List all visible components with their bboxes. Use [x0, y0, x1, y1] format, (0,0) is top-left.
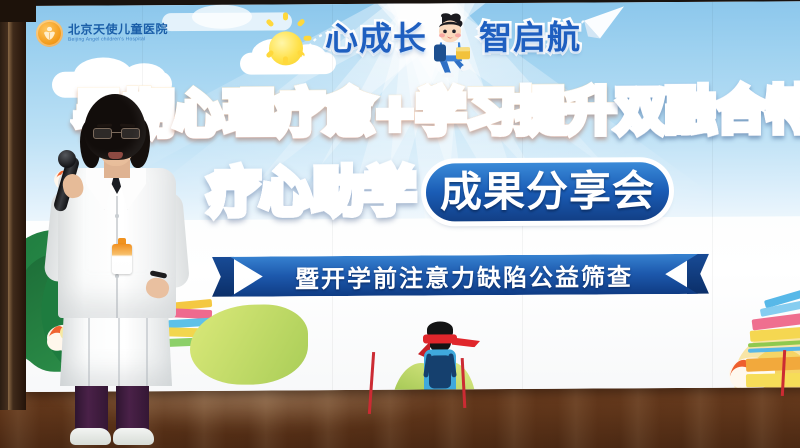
hospital-logo-mark: [36, 20, 63, 47]
event-photo-stage: 北京天使儿童医院 Beijing Angel children's Hospit…: [0, 0, 800, 448]
slogan-right: 智启航: [479, 18, 581, 58]
speaker-mouth: [108, 152, 123, 159]
wall-corner-shadow: [0, 0, 36, 22]
door-frame: [0, 0, 26, 410]
slogan-left: 心成长: [325, 19, 427, 59]
subtitle-text: 疗心助学: [208, 167, 416, 220]
book-stack-icon: [746, 372, 800, 387]
angel-glyph-icon: [40, 24, 59, 43]
speaker-glasses-icon: [93, 128, 140, 140]
hospital-name-cn: 北京天使儿童医院: [68, 23, 168, 36]
hospital-logo: 北京天使儿童医院 Beijing Angel children's Hospit…: [36, 19, 168, 47]
ribbon-text: 暨开学前注意力缺陷公益筛查: [295, 257, 633, 294]
subtitle-pill-text: 成果分享会: [440, 170, 655, 213]
headline-part3: 双融合特需: [616, 81, 800, 141]
subtitle-pill: 成果分享会: [426, 162, 669, 221]
subtitle-line: 疗心助学 成果分享会: [208, 162, 669, 223]
sun-ray: [283, 56, 288, 64]
coat-button: [115, 274, 119, 278]
speaker-shoe-left: [70, 428, 111, 445]
coat-button: [115, 214, 119, 218]
sun-ray: [283, 12, 288, 20]
board-seam: [712, 2, 713, 388]
running-boy-mascot-icon: [418, 11, 480, 77]
book-stack-icon: [746, 356, 800, 372]
speaker-shoe-right: [113, 428, 154, 445]
ribbon-banner: 暨开学前注意力缺陷公益筛查: [230, 254, 698, 297]
door-frame-highlight: [8, 0, 13, 410]
hospital-name-en: Beijing Angel children's Hospital: [68, 37, 168, 43]
main-headline: 暑期心理疗愈+学习提升双融合特需: [74, 85, 800, 140]
headline-part2: 心理疗愈+学习提升: [174, 82, 616, 143]
speaker-id-badge: [112, 244, 132, 274]
